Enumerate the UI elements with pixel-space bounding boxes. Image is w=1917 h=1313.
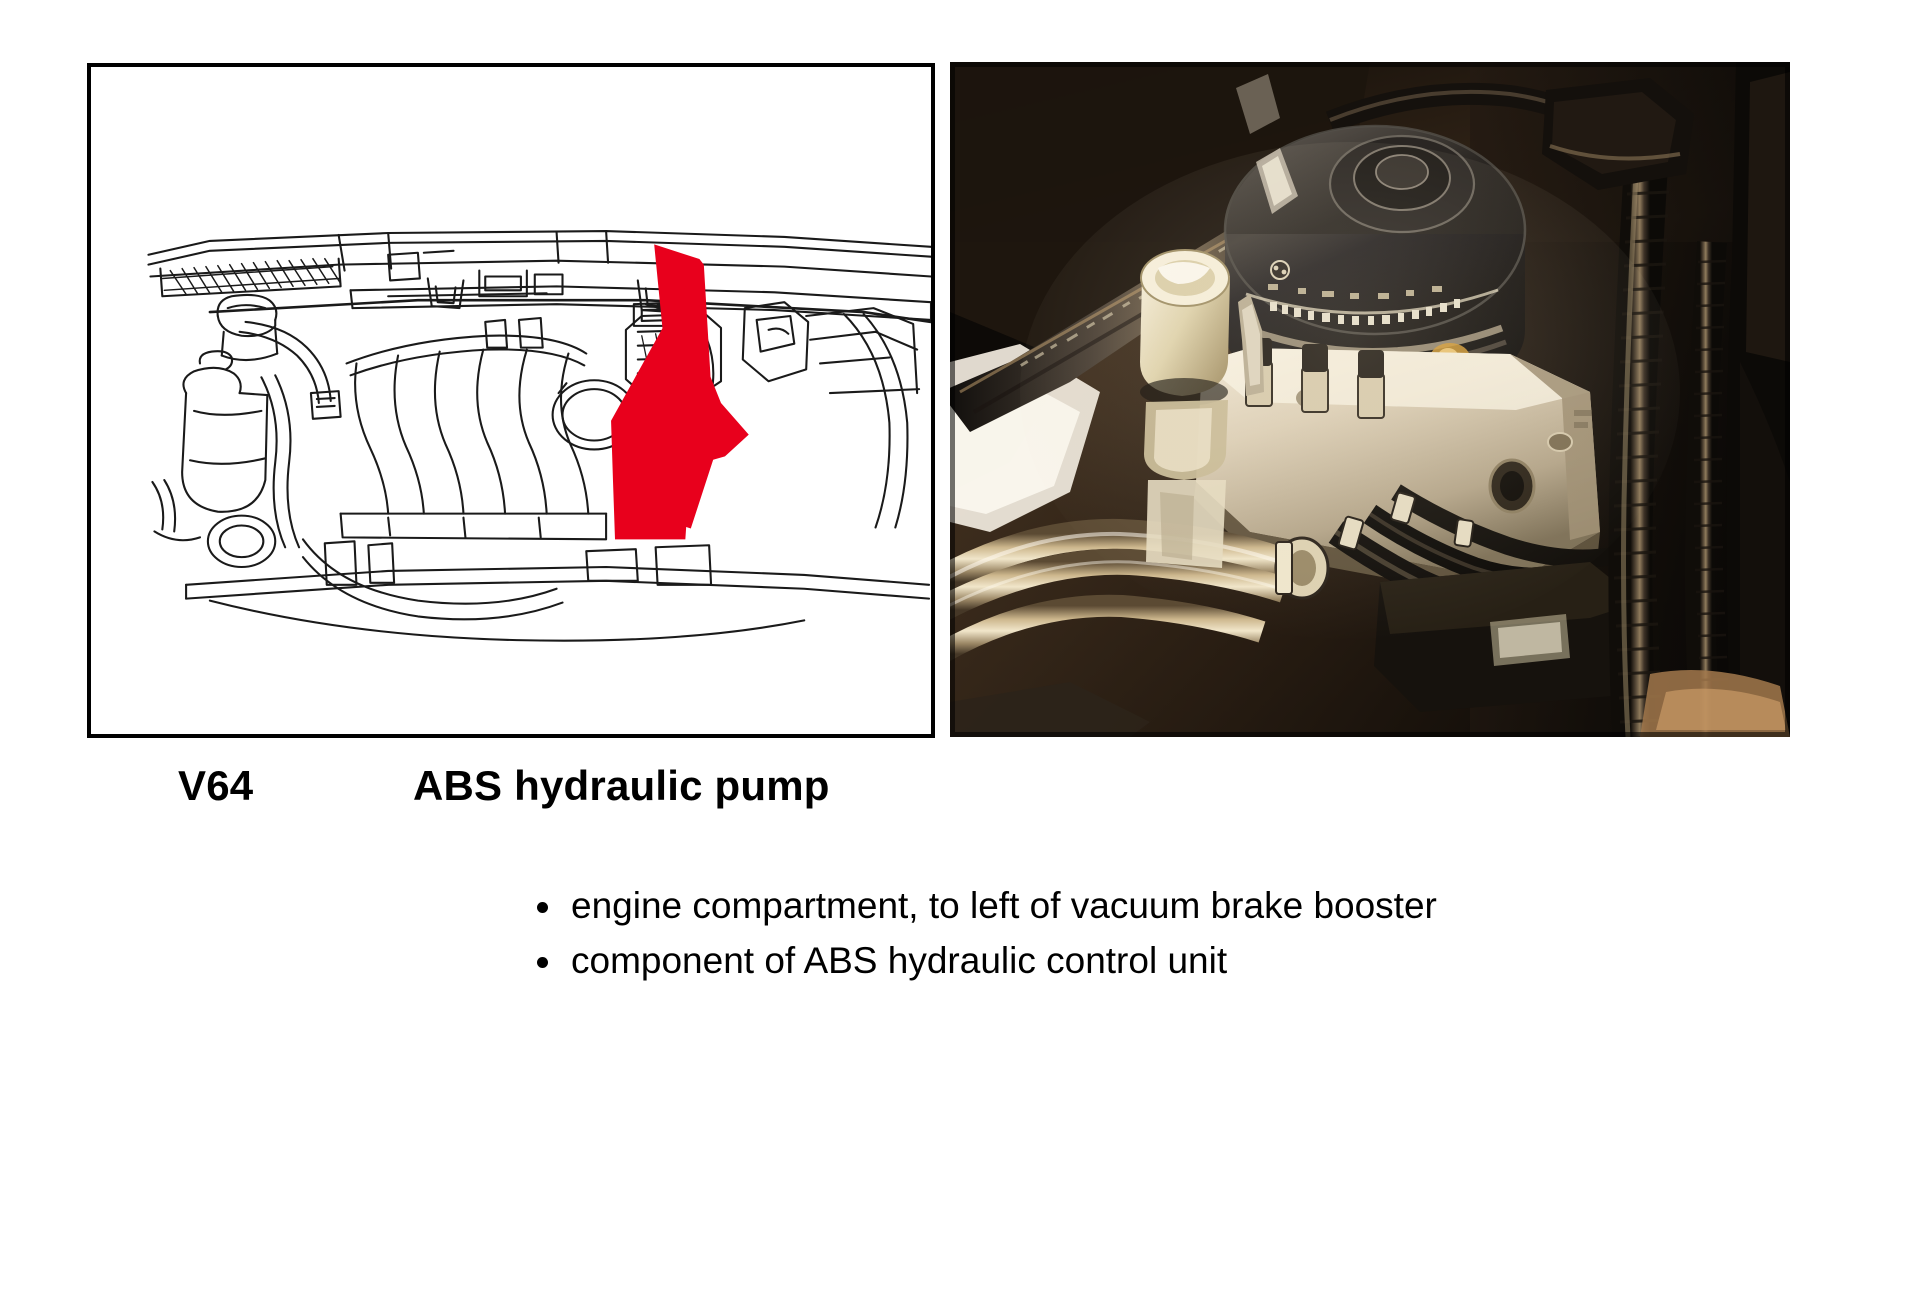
document-page: V64 ABS hydraulic pump engine compartmen…	[0, 0, 1917, 1313]
figure-caption: V64 ABS hydraulic pump	[0, 760, 1917, 830]
figure-row	[0, 0, 1917, 760]
list-item: component of ABS hydraulic control unit	[531, 935, 1631, 986]
engine-bay-line-drawing-panel	[87, 63, 935, 738]
bullet-dot-icon	[537, 957, 548, 968]
component-title: ABS hydraulic pump	[413, 760, 830, 812]
component-notes-list: engine compartment, to left of vacuum br…	[531, 880, 1631, 990]
bullet-dot-icon	[537, 902, 548, 913]
note-text: component of ABS hydraulic control unit	[571, 935, 1631, 986]
engine-bay-line-drawing	[91, 67, 931, 734]
list-item: engine compartment, to left of vacuum br…	[531, 880, 1631, 931]
engine-bay-photograph-panel	[950, 62, 1790, 737]
note-text: engine compartment, to left of vacuum br…	[571, 880, 1631, 931]
engine-bay-photograph	[950, 62, 1790, 737]
component-code: V64	[178, 760, 253, 812]
